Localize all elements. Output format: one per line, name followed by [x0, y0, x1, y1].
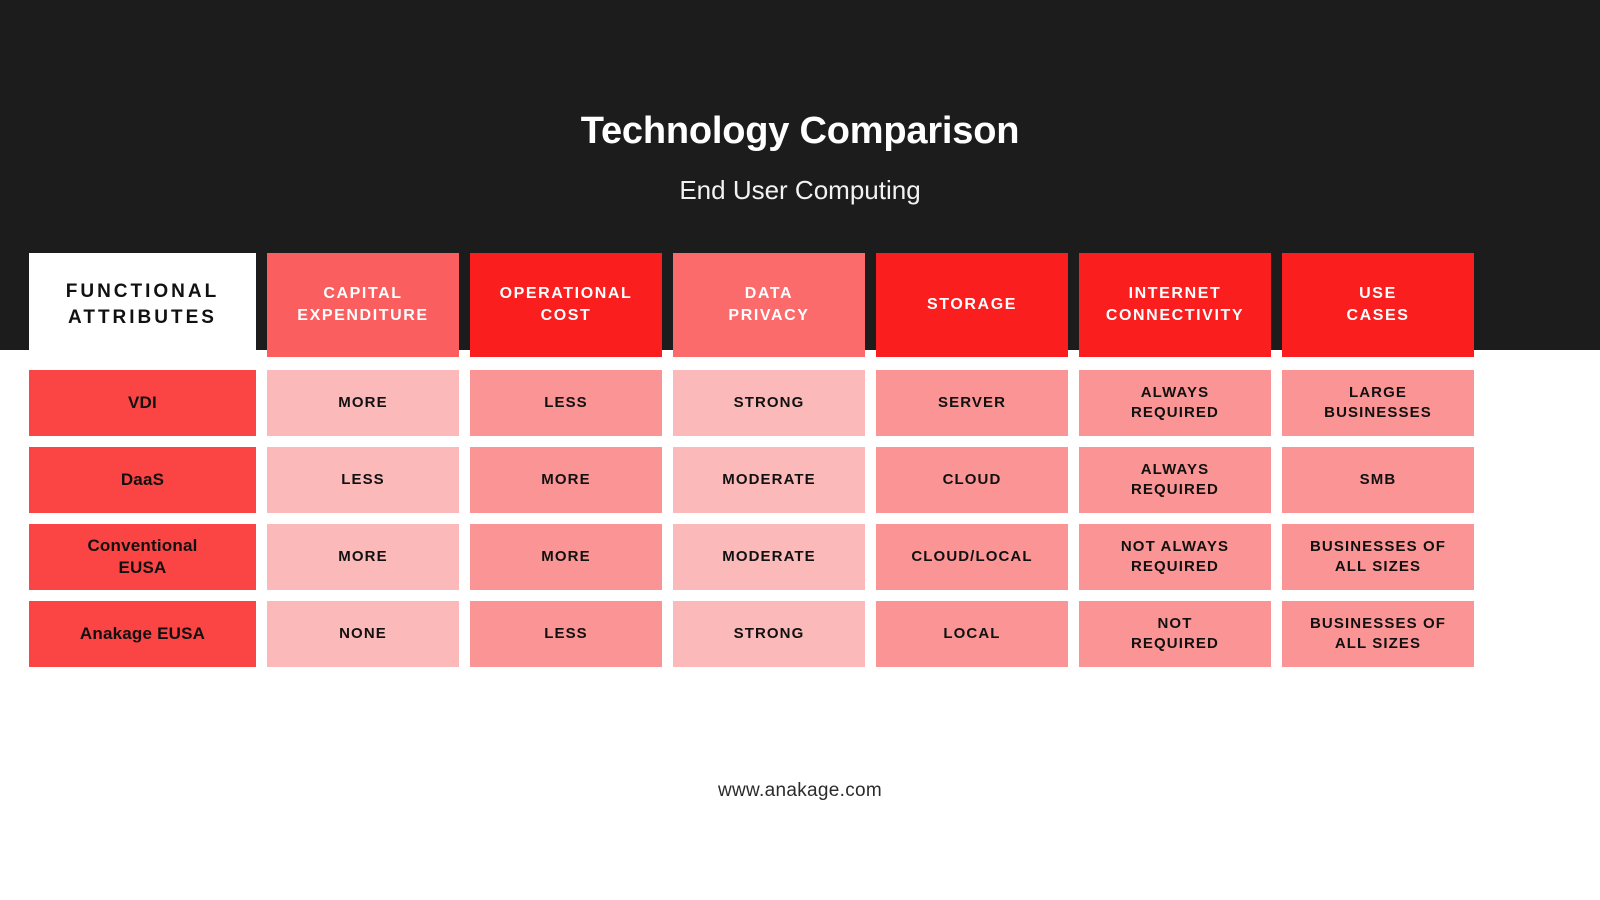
cell-vdi-internet-connectivity-label: ALWAYSREQUIRED	[1131, 383, 1219, 423]
infographic-canvas: Technology Comparison End User Computing…	[0, 0, 1600, 900]
column-header-operational-cost: OPERATIONALCOST	[470, 253, 662, 357]
cell-daas-operational-cost-label: MORE	[541, 470, 590, 490]
column-header-internet-connectivity-label: INTERNETCONNECTIVITY	[1106, 283, 1244, 327]
cell-conventional-eusa-data-privacy-label: MODERATE	[722, 547, 816, 567]
cell-conventional-eusa-data-privacy: MODERATE	[673, 524, 865, 590]
cell-conventional-eusa-use-cases: BUSINESSES OFALL SIZES	[1282, 524, 1474, 590]
row-label-daas-label: DaaS	[121, 469, 164, 491]
row-label-vdi: VDI	[29, 370, 256, 436]
page-subtitle: End User Computing	[0, 172, 1600, 208]
cell-conventional-eusa-internet-connectivity: NOT ALWAYSREQUIRED	[1079, 524, 1271, 590]
column-header-internet-connectivity: INTERNETCONNECTIVITY	[1079, 253, 1271, 357]
column-header-functional-attributes: FUNCTIONALATTRIBUTES	[29, 253, 256, 357]
cell-vdi-use-cases: LARGEBUSINESSES	[1282, 370, 1474, 436]
cell-anakage-eusa-capital-expenditure-label: NONE	[339, 624, 387, 644]
cell-anakage-eusa-capital-expenditure: NONE	[267, 601, 459, 667]
row-label-conventional-eusa: ConventionalEUSA	[29, 524, 256, 590]
cell-anakage-eusa-data-privacy: STRONG	[673, 601, 865, 667]
cell-vdi-data-privacy: STRONG	[673, 370, 865, 436]
column-header-functional-attributes-label: FUNCTIONALATTRIBUTES	[66, 279, 219, 331]
column-header-data-privacy-label: DATAPRIVACY	[728, 283, 809, 327]
cell-daas-internet-connectivity: ALWAYSREQUIRED	[1079, 447, 1271, 513]
cell-vdi-use-cases-label: LARGEBUSINESSES	[1324, 383, 1432, 423]
column-header-capital-expenditure: CAPITALEXPENDITURE	[267, 253, 459, 357]
table-header-row: FUNCTIONALATTRIBUTESCAPITALEXPENDITUREOP…	[29, 253, 1571, 357]
cell-conventional-eusa-operational-cost: MORE	[470, 524, 662, 590]
table-body: VDIMORELESSSTRONGSERVERALWAYSREQUIREDLAR…	[29, 370, 1571, 667]
column-header-capital-expenditure-label: CAPITALEXPENDITURE	[297, 283, 428, 327]
cell-anakage-eusa-operational-cost-label: LESS	[544, 624, 588, 644]
cell-vdi-capital-expenditure: MORE	[267, 370, 459, 436]
cell-daas-storage-label: CLOUD	[943, 470, 1002, 490]
cell-conventional-eusa-storage-label: CLOUD/LOCAL	[911, 547, 1032, 567]
cell-conventional-eusa-capital-expenditure: MORE	[267, 524, 459, 590]
comparison-table: FUNCTIONALATTRIBUTESCAPITALEXPENDITUREOP…	[29, 253, 1571, 678]
row-label-anakage-eusa: Anakage EUSA	[29, 601, 256, 667]
cell-vdi-operational-cost: LESS	[470, 370, 662, 436]
cell-daas-internet-connectivity-label: ALWAYSREQUIRED	[1131, 460, 1219, 500]
table-row: ConventionalEUSAMOREMOREMODERATECLOUD/LO…	[29, 524, 1571, 590]
cell-daas-storage: CLOUD	[876, 447, 1068, 513]
page-title: Technology Comparison	[0, 107, 1600, 155]
table-row: DaaSLESSMOREMODERATECLOUDALWAYSREQUIREDS…	[29, 447, 1571, 513]
footer-website-url: www.anakage.com	[0, 780, 1600, 802]
column-header-operational-cost-label: OPERATIONALCOST	[500, 283, 633, 327]
table-row: Anakage EUSANONELESSSTRONGLOCALNOTREQUIR…	[29, 601, 1571, 667]
column-header-use-cases: USECASES	[1282, 253, 1474, 357]
column-header-storage-label: STORAGE	[927, 294, 1017, 316]
row-label-conventional-eusa-label: ConventionalEUSA	[87, 535, 197, 579]
cell-daas-data-privacy: MODERATE	[673, 447, 865, 513]
column-header-use-cases-label: USECASES	[1346, 283, 1409, 327]
cell-conventional-eusa-storage: CLOUD/LOCAL	[876, 524, 1068, 590]
cell-vdi-data-privacy-label: STRONG	[734, 393, 805, 413]
column-header-data-privacy: DATAPRIVACY	[673, 253, 865, 357]
row-label-vdi-label: VDI	[128, 392, 157, 414]
cell-vdi-storage-label: SERVER	[938, 393, 1006, 413]
row-label-anakage-eusa-label: Anakage EUSA	[80, 623, 205, 645]
row-label-daas: DaaS	[29, 447, 256, 513]
cell-conventional-eusa-capital-expenditure-label: MORE	[338, 547, 387, 567]
cell-anakage-eusa-internet-connectivity-label: NOTREQUIRED	[1131, 614, 1219, 654]
cell-daas-capital-expenditure: LESS	[267, 447, 459, 513]
cell-daas-use-cases: SMB	[1282, 447, 1474, 513]
cell-conventional-eusa-use-cases-label: BUSINESSES OFALL SIZES	[1310, 537, 1446, 577]
cell-conventional-eusa-operational-cost-label: MORE	[541, 547, 590, 567]
cell-vdi-capital-expenditure-label: MORE	[338, 393, 387, 413]
cell-anakage-eusa-use-cases-label: BUSINESSES OFALL SIZES	[1310, 614, 1446, 654]
cell-daas-capital-expenditure-label: LESS	[341, 470, 385, 490]
cell-anakage-eusa-data-privacy-label: STRONG	[734, 624, 805, 644]
cell-daas-data-privacy-label: MODERATE	[722, 470, 816, 490]
cell-vdi-operational-cost-label: LESS	[544, 393, 588, 413]
column-header-storage: STORAGE	[876, 253, 1068, 357]
cell-anakage-eusa-internet-connectivity: NOTREQUIRED	[1079, 601, 1271, 667]
cell-anakage-eusa-storage-label: LOCAL	[943, 624, 1000, 644]
cell-vdi-internet-connectivity: ALWAYSREQUIRED	[1079, 370, 1271, 436]
cell-daas-use-cases-label: SMB	[1360, 470, 1397, 490]
cell-anakage-eusa-operational-cost: LESS	[470, 601, 662, 667]
table-row: VDIMORELESSSTRONGSERVERALWAYSREQUIREDLAR…	[29, 370, 1571, 436]
cell-vdi-storage: SERVER	[876, 370, 1068, 436]
cell-conventional-eusa-internet-connectivity-label: NOT ALWAYSREQUIRED	[1121, 537, 1229, 577]
cell-anakage-eusa-storage: LOCAL	[876, 601, 1068, 667]
cell-daas-operational-cost: MORE	[470, 447, 662, 513]
cell-anakage-eusa-use-cases: BUSINESSES OFALL SIZES	[1282, 601, 1474, 667]
